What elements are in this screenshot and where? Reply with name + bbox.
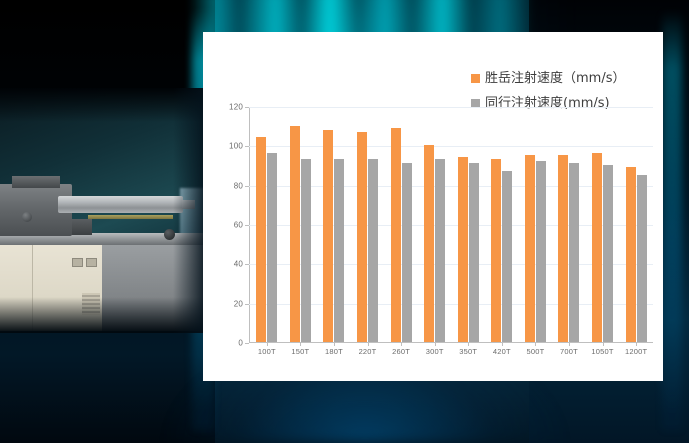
x-axis-tick-label: 150T: [284, 347, 318, 356]
x-axis-tick: [603, 342, 604, 346]
x-axis-tick: [535, 342, 536, 346]
x-axis-tick-label: 100T: [250, 347, 284, 356]
x-axis-tick-label: 1200T: [619, 347, 653, 356]
x-axis-tick: [435, 342, 436, 346]
y-axis-tick: [245, 264, 249, 265]
y-axis-tick-label: 0: [238, 339, 243, 348]
bar-series-2: [469, 163, 479, 342]
y-axis-tick-label: 60: [234, 221, 243, 230]
chart-panel: 胜岳注射速度（mm/s） 同行注射速度(mm/s) 02040608010012…: [203, 32, 663, 381]
bar-series-1: [391, 128, 401, 342]
clamping-unit-top: [12, 176, 60, 188]
legend-swatch-icon-series-1: [471, 74, 480, 83]
bar-series-2: [536, 161, 546, 342]
y-axis-tick-label: 100: [229, 142, 243, 151]
bar-group: [351, 107, 385, 342]
bar-group: [619, 107, 653, 342]
bar-series-2: [603, 165, 613, 342]
bar-group: [384, 107, 418, 342]
bar-group: [519, 107, 553, 342]
tie-rod: [88, 215, 173, 219]
x-axis-tick-label: 500T: [519, 347, 553, 356]
bar-series-1: [626, 167, 636, 342]
bar-group: [586, 107, 620, 342]
injection-molding-machine-photo: [0, 88, 203, 333]
y-axis-tick: [245, 304, 249, 305]
x-axis-tick-label: 1050T: [586, 347, 620, 356]
y-axis-tick: [245, 225, 249, 226]
x-axis-tick: [569, 342, 570, 346]
slide-canvas: 胜岳注射速度（mm/s） 同行注射速度(mm/s) 02040608010012…: [0, 0, 689, 443]
y-axis-tick-label: 80: [234, 182, 243, 191]
y-axis-tick-label: 40: [234, 260, 243, 269]
x-axis-tick: [334, 342, 335, 346]
bar-series-2: [301, 159, 311, 342]
legend-label-series-1: 胜岳注射速度（mm/s）: [485, 72, 625, 85]
bar-series-1: [290, 126, 300, 342]
x-axis-labels: 100T150T180T220T260T300T350T420T500T700T…: [250, 347, 653, 356]
bar-group: [284, 107, 318, 342]
bar-series-2: [368, 159, 378, 342]
bar-series-1: [424, 145, 434, 342]
bar-series-1: [558, 155, 568, 342]
bar-group: [317, 107, 351, 342]
bar-series-2: [435, 159, 445, 342]
x-axis-line: [249, 342, 653, 343]
y-axis-tick-label: 20: [234, 300, 243, 309]
injection-barrel: [58, 196, 183, 213]
bar-series-1: [323, 130, 333, 342]
bar-series-2: [334, 159, 344, 342]
bar-series-2: [267, 153, 277, 342]
bar-series-2: [402, 163, 412, 342]
bar-group: [418, 107, 452, 342]
x-axis-tick-label: 260T: [384, 347, 418, 356]
x-axis-tick: [636, 342, 637, 346]
bar-series-1: [592, 153, 602, 342]
x-axis-tick: [468, 342, 469, 346]
y-axis-tick: [245, 186, 249, 187]
bar-series-2: [502, 171, 512, 342]
chart-plot-area: 020406080100120: [249, 107, 653, 343]
x-axis-tick: [502, 342, 503, 346]
x-axis-tick: [267, 342, 268, 346]
x-axis-tick: [368, 342, 369, 346]
bar-series-1: [458, 157, 468, 342]
y-axis-tick: [245, 343, 249, 344]
x-axis-tick-label: 420T: [485, 347, 519, 356]
cabinet-button-1: [72, 258, 83, 267]
bar-series-1: [491, 159, 501, 342]
y-axis-tick: [245, 107, 249, 108]
bar-series-2: [569, 163, 579, 342]
y-axis-tick: [245, 146, 249, 147]
cabinet-button-2: [86, 258, 97, 267]
bar-series-1: [357, 132, 367, 342]
bar-group: [250, 107, 284, 342]
bar-series-1: [256, 137, 266, 342]
bar-group: [552, 107, 586, 342]
x-axis-tick-label: 350T: [451, 347, 485, 356]
x-axis-tick-label: 180T: [317, 347, 351, 356]
bar-groups: [250, 107, 653, 342]
x-axis-tick: [300, 342, 301, 346]
right-edge-glow: [662, 10, 682, 430]
x-axis-tick-label: 220T: [351, 347, 385, 356]
photo-right-fade: [173, 88, 203, 333]
clamping-unit-port: [22, 212, 32, 222]
bar-series-2: [637, 175, 647, 342]
bar-group: [451, 107, 485, 342]
x-axis-tick-label: 700T: [552, 347, 586, 356]
x-axis-tick: [401, 342, 402, 346]
x-axis-tick-label: 300T: [418, 347, 452, 356]
bar-group: [485, 107, 519, 342]
legend-item-series-1: 胜岳注射速度（mm/s）: [471, 66, 657, 91]
bar-series-1: [525, 155, 535, 342]
y-axis-tick-label: 120: [229, 103, 243, 112]
